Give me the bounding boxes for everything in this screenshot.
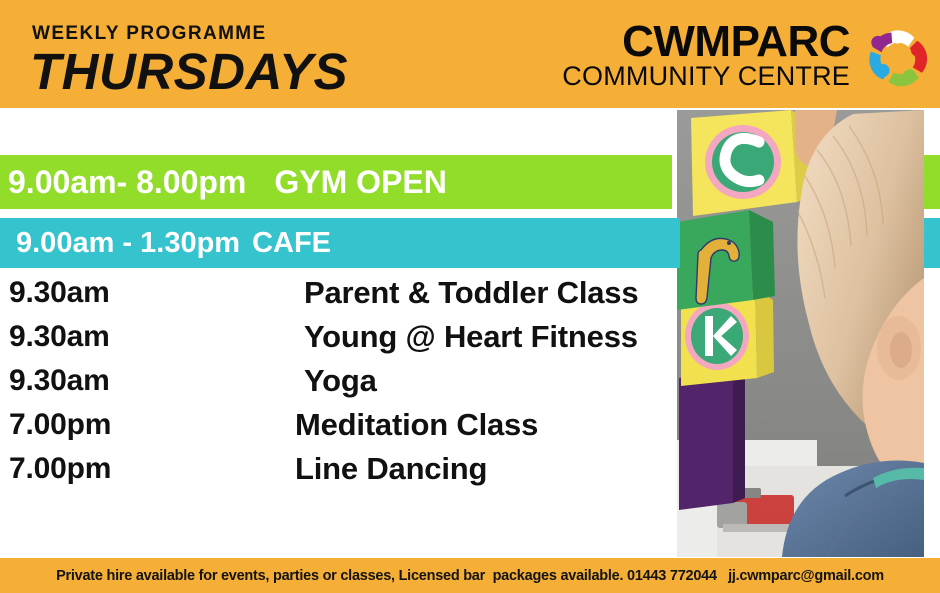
schedule-class: Line Dancing bbox=[295, 451, 487, 487]
schedule-time: 7.00pm bbox=[0, 408, 295, 442]
cafe-band-right-stub bbox=[924, 218, 940, 268]
schedule-time: 9.30am bbox=[0, 276, 295, 310]
gym-open-band: 9.00am- 8.00pm GYM OPEN bbox=[0, 155, 672, 209]
child-with-blocks-photo bbox=[677, 110, 924, 557]
cafe-time: 9.00am - 1.30pm bbox=[16, 227, 240, 260]
schedule-list: 9.30am Parent & Toddler Class 9.30am You… bbox=[0, 271, 677, 491]
schedule-row: 7.00pm Line Dancing bbox=[0, 447, 677, 491]
schedule-class: Young @ Heart Fitness bbox=[295, 319, 638, 355]
cafe-band: 9.00am - 1.30pm CAFE bbox=[0, 218, 680, 268]
community-people-circle-icon bbox=[858, 18, 934, 94]
page-title: THURSDAYS bbox=[30, 45, 348, 99]
schedule-time: 7.00pm bbox=[0, 452, 295, 486]
schedule-time: 9.30am bbox=[0, 364, 295, 398]
schedule-row: 9.30am Parent & Toddler Class bbox=[0, 271, 677, 315]
logo-subtitle: COMMUNITY CENTRE bbox=[562, 63, 850, 91]
gym-open-time: 9.00am- 8.00pm bbox=[8, 164, 246, 201]
schedule-row: 7.00pm Meditation Class bbox=[0, 403, 677, 447]
footer-bar: Private hire available for events, parti… bbox=[0, 558, 940, 593]
schedule-row: 9.30am Young @ Heart Fitness bbox=[0, 315, 677, 359]
gym-open-label: GYM OPEN bbox=[274, 164, 446, 201]
brand-logo: CWMPARC COMMUNITY CENTRE bbox=[562, 18, 934, 94]
header-bar: WEEKLY PROGRAMME THURSDAYS CWMPARC COMMU… bbox=[0, 0, 940, 108]
logo-wordmark: CWMPARC COMMUNITY CENTRE bbox=[562, 21, 850, 91]
schedule-time: 9.30am bbox=[0, 320, 295, 354]
gym-band-right-stub bbox=[924, 155, 940, 209]
cafe-label: CAFE bbox=[252, 227, 331, 260]
schedule-class: Meditation Class bbox=[295, 407, 538, 443]
header-title-group: WEEKLY PROGRAMME THURSDAYS bbox=[30, 24, 348, 99]
logo-name: CWMPARC bbox=[562, 21, 850, 63]
photo-illustration bbox=[677, 110, 924, 557]
schedule-class: Parent & Toddler Class bbox=[295, 275, 638, 311]
schedule-class: Yoga bbox=[295, 363, 377, 399]
footer-contact-text: Private hire available for events, parti… bbox=[56, 568, 884, 584]
schedule-row: 9.30am Yoga bbox=[0, 359, 677, 403]
kicker-label: WEEKLY PROGRAMME bbox=[32, 24, 348, 43]
weekly-programme-poster: WEEKLY PROGRAMME THURSDAYS CWMPARC COMMU… bbox=[0, 0, 940, 593]
